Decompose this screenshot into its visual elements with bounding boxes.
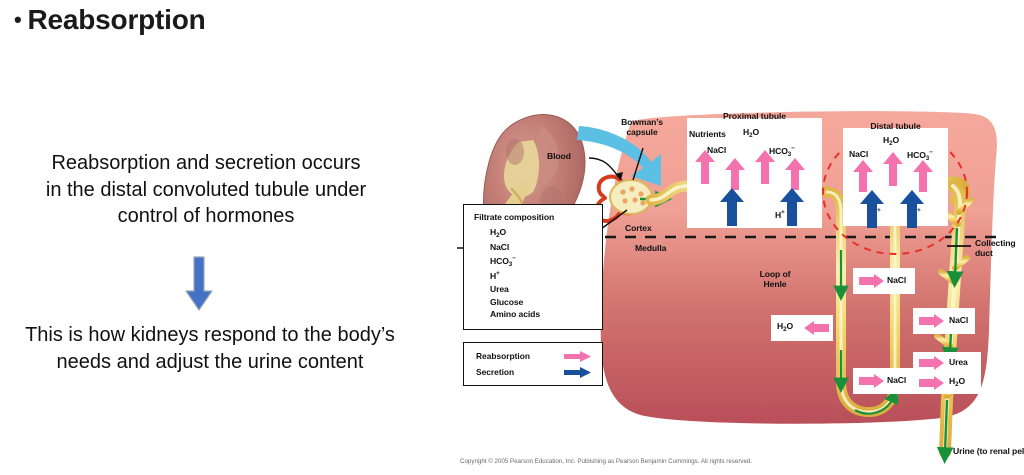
collecting-h2o-arrow	[919, 376, 945, 390]
label-collecting-duct: Collecting duct	[975, 239, 1016, 258]
legend-label-secretion: Secretion	[476, 367, 514, 377]
blue-right-arrow-icon	[564, 367, 592, 378]
page-title-text: Reabsorption	[28, 4, 206, 35]
filtrate-composition-heading: Filtrate composition	[474, 213, 554, 223]
label-proximal-tubule: Proximal tubule	[687, 112, 822, 122]
label-collecting-nacl: NaCl	[949, 316, 968, 326]
legend-item-secretion: Secretion	[476, 367, 514, 377]
label-urine: Urine (to renal pelvis)	[953, 447, 1024, 457]
paragraph-lower-line-1: This is how kidneys respond to the body’…	[0, 322, 420, 349]
paragraph-lower: This is how kidneys respond to the body’…	[0, 322, 420, 375]
proximal-transport-arrows	[687, 140, 827, 230]
label-loop-of-henle-line-2: Henle	[745, 280, 805, 290]
filtrate-item-hco3: HCO3−	[490, 256, 540, 269]
label-loop-nacl-2: NaCl	[887, 376, 906, 386]
paragraph-upper: Reabsorption and secretion occurs in the…	[6, 150, 406, 230]
label-blood: Blood	[547, 152, 571, 162]
distal-transport-arrows	[847, 144, 957, 230]
paragraph-upper-line-2: in the distal convoluted tubule under	[6, 177, 406, 204]
label-bowmans-capsule: Bowman’s capsule	[607, 118, 677, 137]
collecting-urea-arrow	[919, 356, 945, 370]
label-cortex: Cortex	[625, 224, 652, 234]
filtrate-item-amino-acids: Amino acids	[490, 310, 540, 320]
loop-nacl-arrow-1	[859, 274, 885, 288]
bullet-glyph: •	[14, 7, 22, 32]
nephron-diagram: Proximal tubule Distal tubule Blood Bowm…	[455, 100, 1024, 475]
paragraph-upper-line-1: Reabsorption and secretion occurs	[6, 150, 406, 177]
paragraph-lower-line-2: needs and adjust the urine content	[0, 349, 420, 376]
label-collecting-urea: Urea	[949, 358, 968, 368]
down-arrow-icon	[185, 255, 213, 313]
filtrate-item-urea: Urea	[490, 285, 540, 295]
collecting-nacl-arrow	[919, 314, 945, 328]
loop-nacl-arrow-2	[859, 374, 885, 388]
label-proximal-h2o: H2O	[743, 128, 759, 140]
label-loop-nacl-1: NaCl	[887, 276, 906, 286]
label-loop-of-henle: Loop of Henle	[745, 270, 805, 289]
legend-box: Reabsorption Secretion	[463, 342, 603, 386]
label-medulla: Medulla	[635, 244, 666, 254]
legend-item-reabsorption: Reabsorption	[476, 351, 530, 361]
label-collecting-h2o: H2O	[949, 377, 965, 389]
label-collecting-duct-line-2: duct	[975, 249, 1016, 259]
label-loop-h2o: H2O	[777, 322, 793, 334]
label-bowmans-capsule-line-2: capsule	[607, 128, 677, 138]
page-title: •Reabsorption	[14, 4, 206, 36]
filtrate-item-h-plus: H+	[490, 271, 540, 282]
paragraph-upper-line-3: control of hormones	[6, 203, 406, 230]
filtrate-item-h2o: H2O	[490, 228, 540, 240]
copyright-notice: Copyright © 2005 Pearson Education, Inc.…	[460, 458, 752, 465]
loop-h2o-arrow	[803, 321, 829, 335]
label-proximal-nutrients: Nutrients	[689, 130, 726, 140]
pink-right-arrow-icon	[564, 351, 592, 362]
filtrate-item-nacl: NaCl	[490, 243, 540, 253]
filtrate-composition-box: Filtrate composition H2O NaCl HCO3− H+ U…	[463, 204, 603, 330]
label-distal-tubule: Distal tubule	[843, 122, 948, 132]
filtrate-item-glucose: Glucose	[490, 298, 540, 308]
legend-label-reabsorption: Reabsorption	[476, 351, 530, 361]
